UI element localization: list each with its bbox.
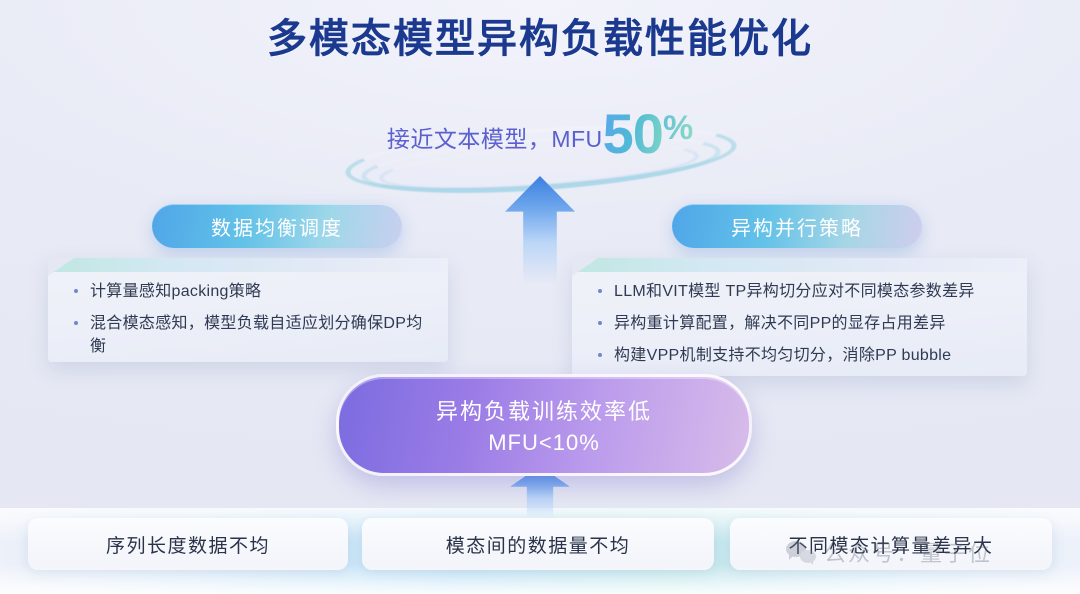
arrow-up-icon-upper <box>505 176 575 284</box>
hero-text-group: 接近文本模型，MFU50% <box>387 92 693 162</box>
bullet-text: 构建VPP机制支持不均匀切分，消除PP bubble <box>614 344 951 367</box>
cause-card-sequence-length[interactable]: 序列长度数据不均 <box>28 518 348 570</box>
hero-metric-unit: % <box>663 109 693 147</box>
solution-card-data-balancing: 计算量感知packing策略 混合模态感知，模型负载自适应划分确保DP均衡 <box>48 258 448 362</box>
bullet-dot-icon <box>74 321 78 325</box>
solution-card-heterogeneous-parallel: LLM和VIT模型 TP异构切分应对不同模态参数差异 异构重计算配置，解决不同P… <box>572 258 1027 376</box>
bullet-text: 计算量感知packing策略 <box>90 280 261 303</box>
cause-card-label: 序列长度数据不均 <box>106 531 270 558</box>
hero-metric: 接近文本模型，MFU50% <box>0 92 1080 172</box>
solution-pill-label: 异构并行策略 <box>731 212 863 241</box>
hero-metric-value: 50 <box>603 102 663 165</box>
bullet-list: LLM和VIT模型 TP异构切分应对不同模态参数差异 异构重计算配置，解决不同P… <box>572 258 1027 378</box>
bullet-dot-icon <box>598 353 602 357</box>
slide-canvas: 多模态模型异构负载性能优化 接近文本模型，MFU50% 数据均衡调度 计算量感知… <box>0 0 1080 594</box>
solution-pill-heterogeneous-parallel[interactable]: 异构并行策略 <box>672 204 922 248</box>
cause-card-label: 模态间的数据量不均 <box>446 531 631 558</box>
bottom-glow-decoration <box>0 564 1080 594</box>
page-title: 多模态模型异构负载性能优化 <box>0 6 1080 64</box>
list-item: 异构重计算配置，解决不同PP的显存占用差异 <box>598 312 1009 335</box>
bullet-list: 计算量感知packing策略 混合模态感知，模型负载自适应划分确保DP均衡 <box>48 258 448 369</box>
bullet-text: LLM和VIT模型 TP异构切分应对不同模态参数差异 <box>614 280 975 303</box>
bullet-dot-icon <box>74 289 78 293</box>
hero-lead-text: 接近文本模型，MFU <box>387 126 603 152</box>
list-item: 构建VPP机制支持不均匀切分，消除PP bubble <box>598 344 1009 367</box>
problem-line-2: MFU<10% <box>488 430 600 456</box>
list-item: LLM和VIT模型 TP异构切分应对不同模态参数差异 <box>598 280 1009 303</box>
bullet-dot-icon <box>598 321 602 325</box>
bullet-dot-icon <box>598 289 602 293</box>
list-item: 计算量感知packing策略 <box>74 280 430 303</box>
solution-pill-label: 数据均衡调度 <box>211 212 343 241</box>
bullet-text: 混合模态感知，模型负载自适应划分确保DP均衡 <box>90 312 430 358</box>
cause-card-compute-variance[interactable]: 不同模态计算量差异大 <box>730 518 1052 570</box>
cause-card-label: 不同模态计算量差异大 <box>788 531 993 558</box>
problem-statement-pill[interactable]: 异构负载训练效率低 MFU<10% <box>336 374 752 476</box>
solution-pill-data-balancing[interactable]: 数据均衡调度 <box>152 204 402 248</box>
cause-card-modality-data-volume[interactable]: 模态间的数据量不均 <box>362 518 714 570</box>
problem-line-1: 异构负载训练效率低 <box>436 394 652 426</box>
bullet-text: 异构重计算配置，解决不同PP的显存占用差异 <box>614 312 946 335</box>
list-item: 混合模态感知，模型负载自适应划分确保DP均衡 <box>74 312 430 358</box>
